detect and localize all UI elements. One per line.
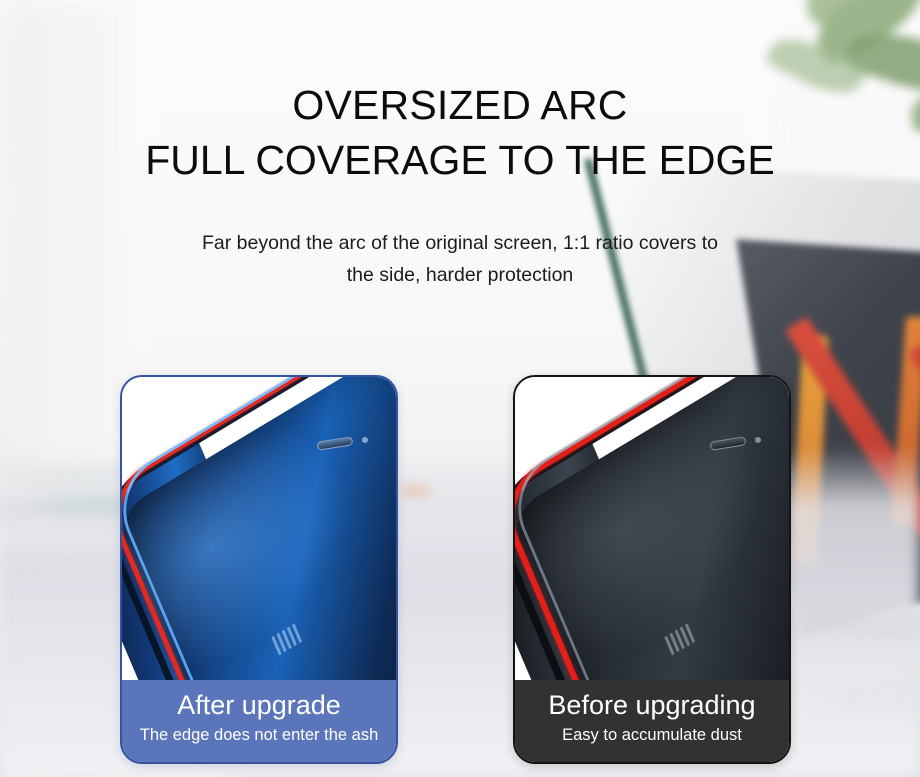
- card-caption-after: After upgrade The edge does not enter th…: [122, 680, 396, 762]
- card-after-upgrade[interactable]: After upgrade The edge does not enter th…: [120, 375, 398, 764]
- card-description: Easy to accumulate dust: [525, 725, 779, 746]
- card-caption-before: Before upgrading Easy to accumulate dust: [515, 680, 789, 762]
- phone-illustration-blue: [122, 377, 396, 680]
- phone-illustration-dark: [515, 377, 789, 680]
- card-before-upgrading[interactable]: Before upgrading Easy to accumulate dust: [513, 375, 791, 764]
- comparison-cards: After upgrade The edge does not enter th…: [0, 0, 920, 777]
- phone-photo-after: [122, 377, 396, 680]
- phone-photo-before: [515, 377, 789, 680]
- card-title: Before upgrading: [525, 689, 779, 722]
- card-title: After upgrade: [132, 689, 386, 722]
- card-description: The edge does not enter the ash: [132, 725, 386, 746]
